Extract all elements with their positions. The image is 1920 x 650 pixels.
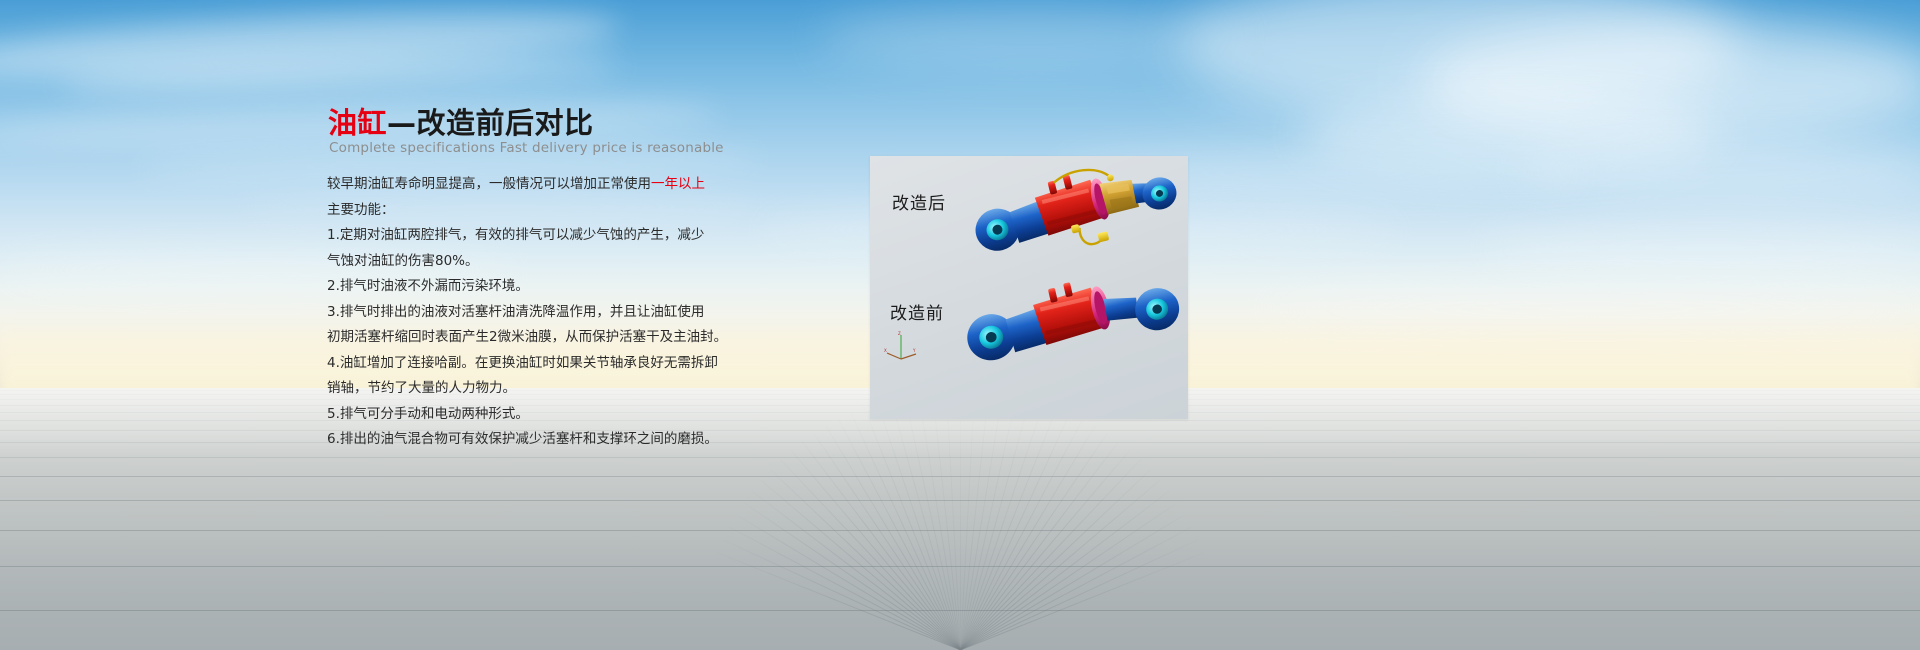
feature-line: 初期活塞杆缩回时表面产生2微米油膜，从而保护活塞干及主油封。 bbox=[327, 325, 787, 351]
page-title-rest: —改造前后对比 bbox=[387, 106, 594, 140]
feature-line: 6.排出的油气混合物可有效保护减少活塞杆和支撑环之间的磨损。 bbox=[327, 427, 787, 453]
svg-text:Z: Z bbox=[898, 331, 901, 336]
coordinate-axis-icon: Z X Y bbox=[884, 331, 918, 361]
feature-description: 较早期油缸寿命明显提高，一般情况可以增加正常使用一年以上 主要功能： 1.定期对… bbox=[327, 172, 787, 453]
banner-content: 油缸—改造前后对比 Complete specifications Fast d… bbox=[0, 0, 1920, 650]
page-title-highlight: 油缸 bbox=[328, 106, 387, 140]
intro-line-2: 主要功能： bbox=[327, 198, 787, 224]
svg-text:Y: Y bbox=[912, 348, 916, 353]
intro-line-1-text: 较早期油缸寿命明显提高，一般情况可以增加正常使用 bbox=[327, 176, 651, 192]
feature-line: 1.定期对油缸两腔排气，有效的排气可以减少气蚀的产生，减少 bbox=[327, 223, 787, 249]
feature-line: 5.排气可分手动和电动两种形式。 bbox=[327, 402, 787, 428]
page-subtitle: Complete specifications Fast delivery pr… bbox=[329, 140, 724, 156]
svg-text:X: X bbox=[884, 348, 887, 353]
feature-line: 2.排气时油液不外漏而污染环境。 bbox=[327, 274, 787, 300]
cad-label-before: 改造前 bbox=[890, 299, 944, 324]
cad-label-after: 改造后 bbox=[892, 189, 946, 214]
feature-line: 气蚀对油缸的伤害80%。 bbox=[327, 249, 787, 275]
intro-line-1: 较早期油缸寿命明显提高，一般情况可以增加正常使用一年以上 bbox=[327, 172, 787, 198]
intro-line-1-highlight: 一年以上 bbox=[651, 176, 705, 192]
promo-banner: 油缸—改造前后对比 Complete specifications Fast d… bbox=[0, 0, 1920, 650]
feature-line: 4.油缸增加了连接哈副。在更换油缸时如果关节轴承良好无需拆卸 bbox=[327, 351, 787, 377]
page-title: 油缸—改造前后对比 bbox=[328, 109, 594, 138]
feature-line: 销轴，节约了大量的人力物力。 bbox=[327, 376, 787, 402]
feature-line: 3.排气时排出的油液对活塞杆油清洗降温作用，并且让油缸使用 bbox=[327, 300, 787, 326]
cad-comparison-image: 改造后 改造前 Z X Y bbox=[870, 156, 1188, 419]
